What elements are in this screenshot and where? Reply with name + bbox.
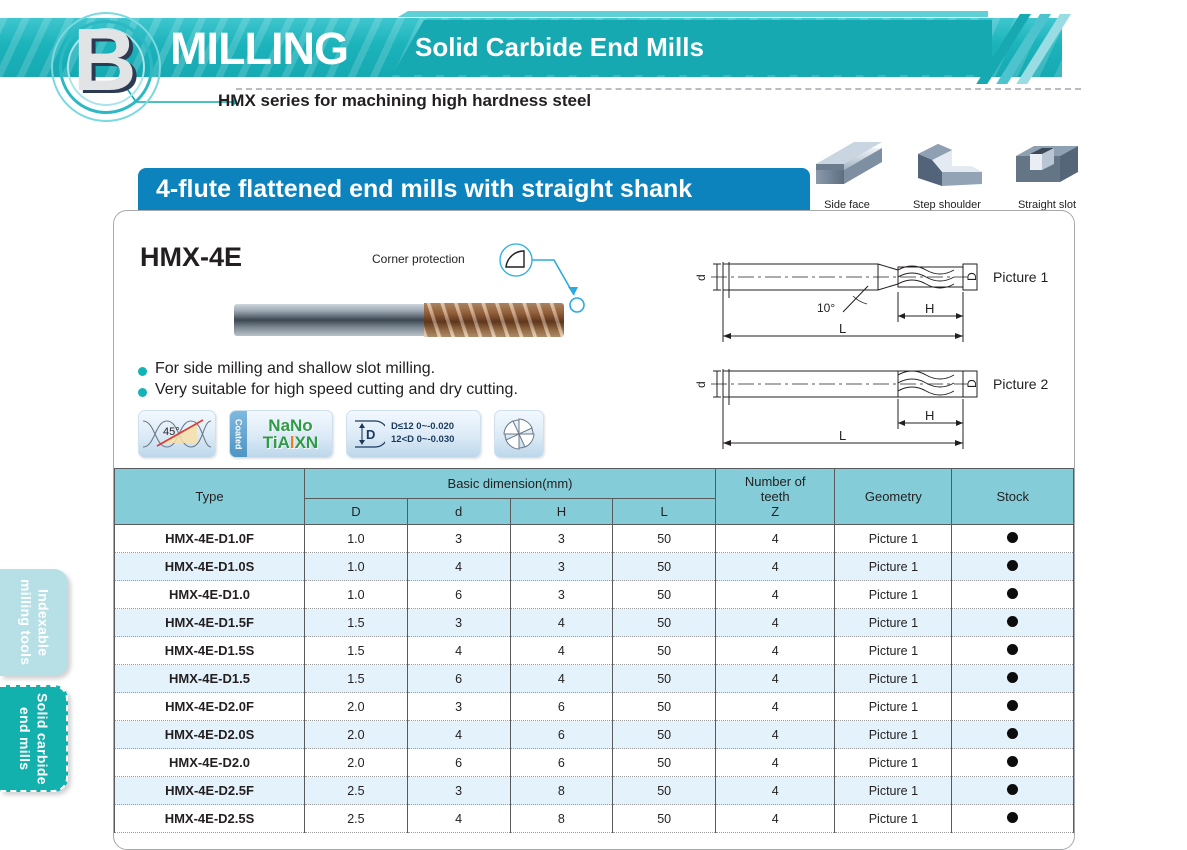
cell-H: 6 bbox=[510, 721, 613, 749]
cell-L: 50 bbox=[613, 693, 716, 721]
cell-teeth: 4 bbox=[716, 805, 835, 833]
cell-geometry: Picture 1 bbox=[835, 693, 952, 721]
cell-teeth: 4 bbox=[716, 721, 835, 749]
cell-geometry: Picture 1 bbox=[835, 721, 952, 749]
badge-tolerance: D D≤12 0~-0.020 12<D 0~-0.030 bbox=[346, 410, 481, 458]
col-header-geometry: Geometry bbox=[835, 469, 952, 525]
sidebar-item-indexable-milling-tools[interactable]: Indexable milling tools bbox=[0, 569, 68, 676]
cell-stock bbox=[952, 693, 1074, 721]
header-category-title: MILLING bbox=[170, 26, 348, 71]
header-product-line-title: Solid Carbide End Mills bbox=[415, 32, 704, 63]
cell-H: 3 bbox=[510, 553, 613, 581]
cell-L: 50 bbox=[613, 609, 716, 637]
section-letter-badge: B bbox=[45, 8, 170, 126]
four-flute-cross-section-icon bbox=[499, 414, 539, 454]
cell-teeth: 4 bbox=[716, 777, 835, 805]
helix-angle-value: 45° bbox=[163, 426, 180, 438]
technical-drawing-picture-1: d D 10° H L Picture 1 bbox=[693, 250, 1073, 350]
dim-label-L: L bbox=[839, 428, 846, 443]
cell-D: 2.5 bbox=[305, 777, 408, 805]
col-header-stock: Stock bbox=[952, 469, 1074, 525]
cell-type: HMX-4E-D2.0S bbox=[115, 721, 305, 749]
operation-straight-slot: Straight slot bbox=[1008, 140, 1086, 215]
helix-angle-icon: 45° bbox=[141, 413, 213, 455]
cell-H: 8 bbox=[510, 805, 613, 833]
cell-stock bbox=[952, 777, 1074, 805]
cell-geometry: Picture 1 bbox=[835, 553, 952, 581]
cell-teeth: 4 bbox=[716, 609, 835, 637]
stock-available-icon bbox=[1007, 672, 1018, 683]
cell-stock bbox=[952, 525, 1074, 553]
col-header-L: L bbox=[613, 499, 716, 525]
product-name: HMX-4E bbox=[140, 242, 242, 273]
cell-stock bbox=[952, 805, 1074, 833]
stock-available-icon bbox=[1007, 560, 1018, 571]
coated-label: Coated bbox=[234, 419, 244, 450]
cell-geometry: Picture 1 bbox=[835, 581, 952, 609]
straight-slot-icon bbox=[1008, 140, 1086, 192]
dim-label-L: L bbox=[839, 321, 846, 336]
operation-thumbnails: Side face Step shoulder Straight slot bbox=[808, 140, 1088, 215]
cell-type: HMX-4E-D1.0F bbox=[115, 525, 305, 553]
cell-L: 50 bbox=[613, 665, 716, 693]
cell-H: 3 bbox=[510, 525, 613, 553]
cell-L: 50 bbox=[613, 749, 716, 777]
feature-item: For side milling and shallow slot millin… bbox=[138, 360, 518, 378]
cell-L: 50 bbox=[613, 805, 716, 833]
header-chip-topline bbox=[398, 11, 988, 17]
table-row[interactable]: HMX-4E-D2.5F2.538504Picture 1 bbox=[115, 777, 1074, 805]
cell-d: 4 bbox=[407, 721, 510, 749]
cell-type: HMX-4E-D2.5F bbox=[115, 777, 305, 805]
operation-step-shoulder: Step shoulder bbox=[908, 140, 986, 215]
cell-type: HMX-4E-D1.0 bbox=[115, 581, 305, 609]
cell-geometry: Picture 1 bbox=[835, 609, 952, 637]
feature-badges: 45° Coated NaNo TiAlXN D D≤12 0~-0.020 1… bbox=[138, 410, 544, 458]
cell-L: 50 bbox=[613, 581, 716, 609]
cell-geometry: Picture 1 bbox=[835, 805, 952, 833]
bullet-dot-icon bbox=[138, 388, 147, 397]
table-row[interactable]: HMX-4E-D1.5F1.534504Picture 1 bbox=[115, 609, 1074, 637]
cell-type: HMX-4E-D2.0 bbox=[115, 749, 305, 777]
coating-line-2: TiAlXN bbox=[249, 434, 332, 451]
stock-available-icon bbox=[1007, 700, 1018, 711]
cell-D: 1.5 bbox=[305, 609, 408, 637]
cell-stock bbox=[952, 665, 1074, 693]
feature-text: For side milling and shallow slot millin… bbox=[155, 360, 435, 378]
cell-teeth: 4 bbox=[716, 553, 835, 581]
sidebar-item-solid-carbide-end-mills[interactable]: Solid carbide end mills bbox=[0, 685, 68, 792]
cell-D: 1.0 bbox=[305, 581, 408, 609]
tool-flutes bbox=[424, 303, 564, 337]
badge-coating: Coated NaNo TiAlXN bbox=[229, 410, 333, 458]
cell-H: 4 bbox=[510, 637, 613, 665]
stock-available-icon bbox=[1007, 756, 1018, 767]
dim-label-H: H bbox=[925, 301, 934, 316]
dim-label-d: d bbox=[694, 274, 708, 281]
cell-geometry: Picture 1 bbox=[835, 665, 952, 693]
cell-d: 4 bbox=[407, 553, 510, 581]
table-header-row-1: Type Basic dimension(mm) Number of teeth… bbox=[115, 469, 1074, 499]
cell-L: 50 bbox=[613, 721, 716, 749]
section-title-text: 4-flute flattened end mills with straigh… bbox=[138, 175, 692, 204]
bullet-dot-icon bbox=[138, 367, 147, 376]
cell-d: 6 bbox=[407, 665, 510, 693]
drawing-caption: Picture 1 bbox=[993, 269, 1048, 285]
cell-D: 1.5 bbox=[305, 637, 408, 665]
cell-L: 50 bbox=[613, 525, 716, 553]
coating-line-1: NaNo bbox=[249, 417, 332, 434]
cell-H: 6 bbox=[510, 749, 613, 777]
technical-drawing-picture-2: d D H L Picture 2 bbox=[693, 357, 1073, 457]
stock-available-icon bbox=[1007, 588, 1018, 599]
col-header-H: H bbox=[510, 499, 613, 525]
sidebar-item-label: Indexable milling tools bbox=[17, 569, 52, 676]
cell-d: 4 bbox=[407, 637, 510, 665]
cell-stock bbox=[952, 609, 1074, 637]
cell-type: HMX-4E-D1.5S bbox=[115, 637, 305, 665]
badge-letter: B bbox=[73, 16, 137, 104]
dim-label-H: H bbox=[925, 408, 934, 423]
side-face-icon bbox=[808, 140, 886, 192]
cell-d: 3 bbox=[407, 609, 510, 637]
header-dashed-divider bbox=[236, 88, 1081, 90]
cell-H: 3 bbox=[510, 581, 613, 609]
dim-label-d: d bbox=[694, 381, 708, 388]
cell-stock bbox=[952, 581, 1074, 609]
product-photo bbox=[234, 303, 564, 337]
cell-d: 3 bbox=[407, 693, 510, 721]
coated-strip: Coated bbox=[230, 411, 247, 457]
tool-shank bbox=[234, 304, 430, 336]
cell-stock bbox=[952, 637, 1074, 665]
cell-teeth: 4 bbox=[716, 525, 835, 553]
badge-flute-cross-section bbox=[494, 410, 544, 458]
feature-list: For side milling and shallow slot millin… bbox=[138, 360, 518, 402]
cell-type: HMX-4E-D1.0S bbox=[115, 553, 305, 581]
cell-d: 6 bbox=[407, 749, 510, 777]
tolerance-symbol: D bbox=[366, 427, 375, 442]
table-row[interactable]: HMX-4E-D1.0F1.033504Picture 1 bbox=[115, 525, 1074, 553]
stock-available-icon bbox=[1007, 644, 1018, 655]
table-header: Type Basic dimension(mm) Number of teeth… bbox=[115, 469, 1074, 525]
tolerance-row-1: D≤12 0~-0.020 bbox=[391, 421, 454, 434]
table-row[interactable]: HMX-4E-D2.02.066504Picture 1 bbox=[115, 749, 1074, 777]
cell-geometry: Picture 1 bbox=[835, 637, 952, 665]
cell-stock bbox=[952, 749, 1074, 777]
cell-teeth: 4 bbox=[716, 693, 835, 721]
feature-item: Very suitable for high speed cutting and… bbox=[138, 381, 518, 399]
corner-protection-label: Corner protection bbox=[372, 252, 465, 266]
operation-side-face: Side face bbox=[808, 140, 886, 215]
table-row[interactable]: HMX-4E-D1.5S1.544504Picture 1 bbox=[115, 637, 1074, 665]
diameter-tolerance-icon: D bbox=[353, 417, 385, 451]
cell-D: 2.0 bbox=[305, 721, 408, 749]
cell-L: 50 bbox=[613, 777, 716, 805]
cell-D: 1.0 bbox=[305, 525, 408, 553]
cell-geometry: Picture 1 bbox=[835, 777, 952, 805]
cell-type: HMX-4E-D2.5S bbox=[115, 805, 305, 833]
cell-H: 4 bbox=[510, 665, 613, 693]
feature-text: Very suitable for high speed cutting and… bbox=[155, 381, 518, 399]
stock-available-icon bbox=[1007, 532, 1018, 543]
stock-available-icon bbox=[1007, 616, 1018, 627]
header-diagonal-stripes bbox=[1020, 14, 1130, 84]
stock-available-icon bbox=[1007, 812, 1018, 823]
tolerance-values: D≤12 0~-0.020 12<D 0~-0.030 bbox=[391, 421, 454, 447]
cell-H: 6 bbox=[510, 693, 613, 721]
step-shoulder-icon bbox=[908, 140, 986, 192]
cell-type: HMX-4E-D1.5F bbox=[115, 609, 305, 637]
cell-d: 3 bbox=[407, 525, 510, 553]
col-header-teeth: Number of teeth Z bbox=[716, 469, 835, 525]
cell-stock bbox=[952, 721, 1074, 749]
col-header-D: D bbox=[305, 499, 408, 525]
sidebar-item-label: Solid carbide end mills bbox=[16, 687, 51, 790]
angle-label: 10° bbox=[817, 301, 835, 315]
cell-D: 2.0 bbox=[305, 749, 408, 777]
cell-teeth: 4 bbox=[716, 749, 835, 777]
cell-D: 1.0 bbox=[305, 553, 408, 581]
section-title-bar: 4-flute flattened end mills with straigh… bbox=[138, 168, 810, 210]
table-row[interactable]: HMX-4E-D1.01.063504Picture 1 bbox=[115, 581, 1074, 609]
tolerance-row-2: 12<D 0~-0.030 bbox=[391, 434, 454, 447]
table-body: HMX-4E-D1.0F1.033504Picture 1HMX-4E-D1.0… bbox=[115, 525, 1074, 833]
cell-geometry: Picture 1 bbox=[835, 525, 952, 553]
cell-H: 8 bbox=[510, 777, 613, 805]
col-header-type: Type bbox=[115, 469, 305, 525]
cell-L: 50 bbox=[613, 553, 716, 581]
header-subtitle: HMX series for machining high hardness s… bbox=[218, 91, 591, 111]
dim-label-D: D bbox=[965, 379, 979, 388]
badge-helix-angle: 45° bbox=[138, 410, 216, 458]
cell-L: 50 bbox=[613, 637, 716, 665]
table-row[interactable]: HMX-4E-D1.51.564504Picture 1 bbox=[115, 665, 1074, 693]
stock-available-icon bbox=[1007, 784, 1018, 795]
cell-D: 2.5 bbox=[305, 805, 408, 833]
col-header-basic-dimension: Basic dimension(mm) bbox=[305, 469, 716, 499]
coating-name: NaNo TiAlXN bbox=[247, 417, 332, 451]
cell-geometry: Picture 1 bbox=[835, 749, 952, 777]
dim-label-D: D bbox=[965, 272, 979, 281]
cell-teeth: 4 bbox=[716, 665, 835, 693]
cell-D: 2.0 bbox=[305, 693, 408, 721]
cell-teeth: 4 bbox=[716, 581, 835, 609]
table-row[interactable]: HMX-4E-D2.0F2.036504Picture 1 bbox=[115, 693, 1074, 721]
cell-teeth: 4 bbox=[716, 637, 835, 665]
table-row[interactable]: HMX-4E-D2.0S2.046504Picture 1 bbox=[115, 721, 1074, 749]
cell-d: 4 bbox=[407, 805, 510, 833]
table-row[interactable]: HMX-4E-D1.0S1.043504Picture 1 bbox=[115, 553, 1074, 581]
cell-D: 1.5 bbox=[305, 665, 408, 693]
table-row[interactable]: HMX-4E-D2.5S2.548504Picture 1 bbox=[115, 805, 1074, 833]
cell-d: 6 bbox=[407, 581, 510, 609]
cell-H: 4 bbox=[510, 609, 613, 637]
cell-type: HMX-4E-D2.0F bbox=[115, 693, 305, 721]
col-header-d: d bbox=[407, 499, 510, 525]
cell-d: 3 bbox=[407, 777, 510, 805]
stock-available-icon bbox=[1007, 728, 1018, 739]
drawing-caption: Picture 2 bbox=[993, 376, 1048, 392]
cell-type: HMX-4E-D1.5 bbox=[115, 665, 305, 693]
cell-stock bbox=[952, 553, 1074, 581]
specification-table: Type Basic dimension(mm) Number of teeth… bbox=[114, 468, 1074, 833]
